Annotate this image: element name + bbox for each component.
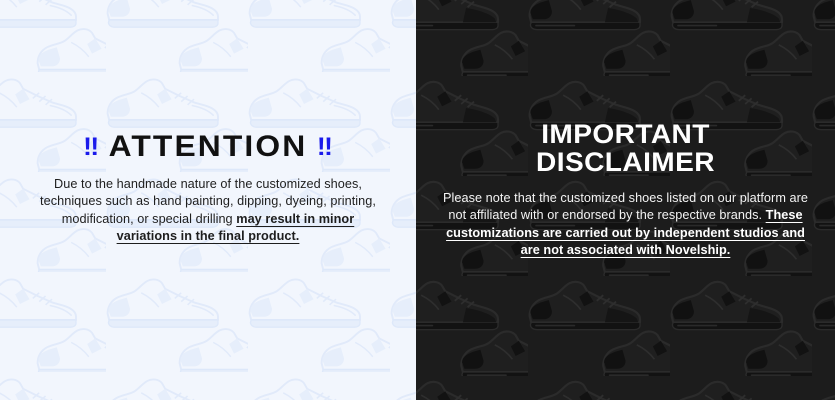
disclaimer-heading-line1: IMPORTANT bbox=[435, 120, 817, 148]
attention-heading-text: ATTENTION bbox=[109, 130, 308, 163]
attention-heading: ‼ATTENTION‼ bbox=[30, 131, 386, 163]
disclaimer-heading-line2: DISCLAIMER bbox=[435, 148, 817, 176]
double-exclamation-right-icon: ‼ bbox=[317, 133, 333, 161]
double-exclamation-left-icon: ‼ bbox=[83, 133, 99, 161]
disclaimer-body-plain: Please note that the customized shoes li… bbox=[443, 191, 808, 222]
disclaimer-panel: IMPORTANT DISCLAIMER Please note that th… bbox=[416, 0, 835, 400]
attention-body: Due to the handmade nature of the custom… bbox=[40, 176, 376, 246]
disclaimer-body: Please note that the customized shoes li… bbox=[442, 190, 809, 260]
disclaimer-content: IMPORTANT DISCLAIMER Please note that th… bbox=[416, 120, 835, 260]
disclaimer-heading: IMPORTANT DISCLAIMER bbox=[435, 120, 817, 176]
promo-banner: ‼ATTENTION‼ Due to the handmade nature o… bbox=[0, 0, 835, 400]
attention-panel: ‼ATTENTION‼ Due to the handmade nature o… bbox=[0, 0, 416, 400]
attention-content: ‼ATTENTION‼ Due to the handmade nature o… bbox=[0, 131, 416, 246]
